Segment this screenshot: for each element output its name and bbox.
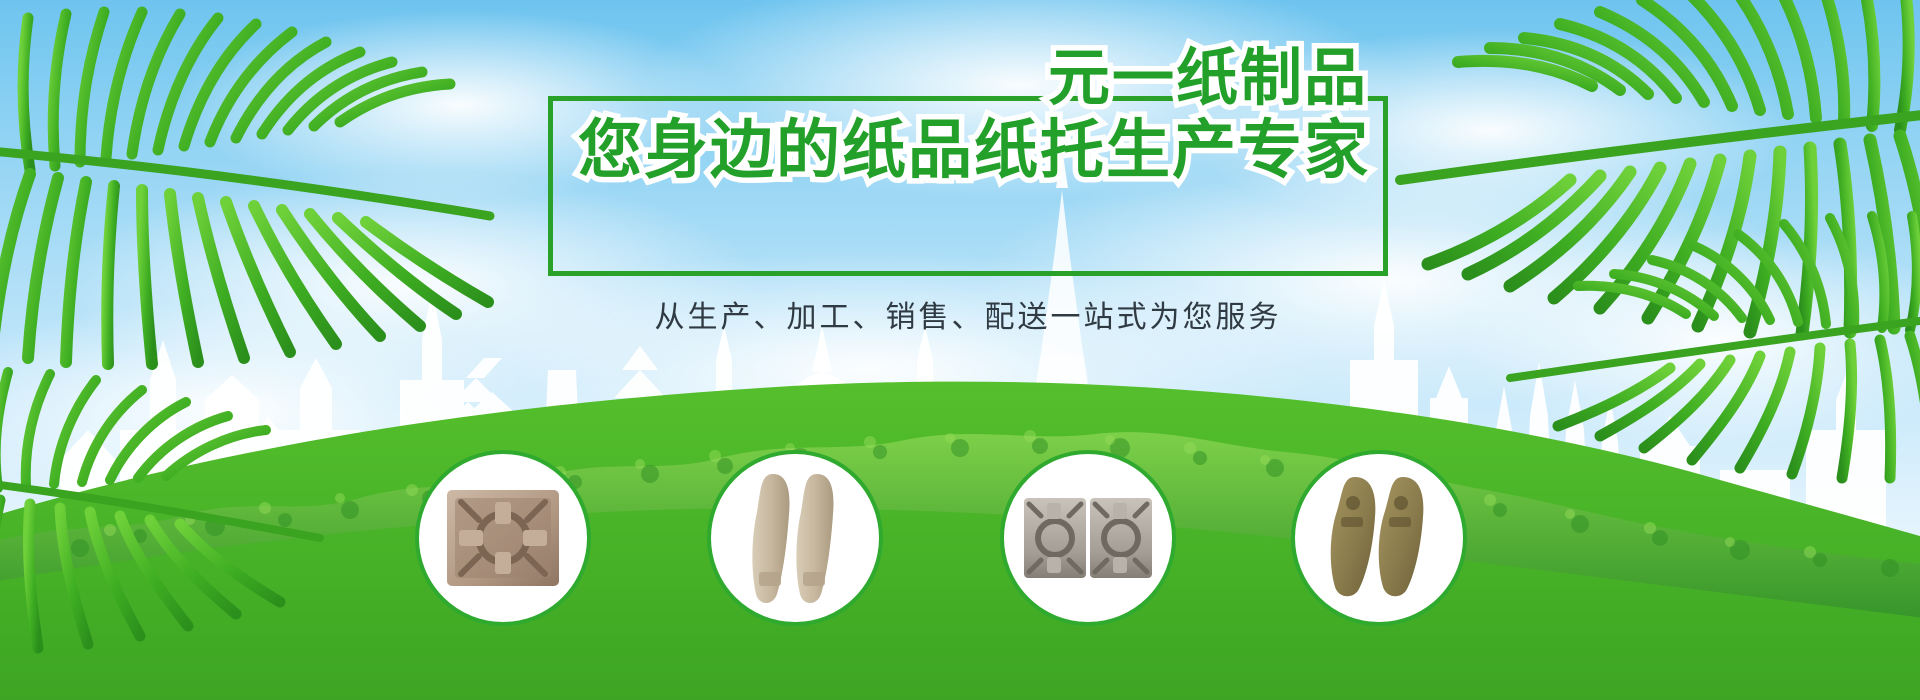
cloud-blob xyxy=(1460,230,1920,450)
headline-line-2: 您身边的纸品纸托生产专家 xyxy=(548,118,1372,182)
paper-pulp-tray-square-icon xyxy=(445,486,561,590)
paper-pulp-shoe-inserts-icon xyxy=(747,468,843,608)
product-circle-paper-pulp-tray-pair[interactable] xyxy=(1000,450,1176,626)
promo-banner: 元一纸制品 您身边的纸品纸托生产专家 从生产、加工、销售、配送一站式为您服务 xyxy=(0,0,1920,700)
product-circle-paper-pulp-shoe-trees-dark[interactable] xyxy=(1291,450,1467,626)
product-showcase xyxy=(415,450,1505,620)
palm-frond-icon xyxy=(1340,0,1920,350)
paper-pulp-shoe-trees-dark-icon xyxy=(1327,473,1431,603)
product-circle-paper-pulp-shoe-inserts[interactable] xyxy=(707,450,883,626)
palm-frond-icon xyxy=(0,330,370,690)
headline-block: 元一纸制品 您身边的纸品纸托生产专家 xyxy=(548,96,1388,276)
headline-text-group: 元一纸制品 您身边的纸品纸托生产专家 xyxy=(548,48,1388,182)
headline-line-1: 元一纸制品 xyxy=(548,48,1372,110)
palm-frond-icon xyxy=(0,0,530,390)
paper-pulp-tray-pair-icon xyxy=(1023,494,1153,582)
product-circle-paper-pulp-tray-square[interactable] xyxy=(415,450,591,626)
subtitle: 从生产、加工、销售、配送一站式为您服务 xyxy=(548,292,1388,336)
